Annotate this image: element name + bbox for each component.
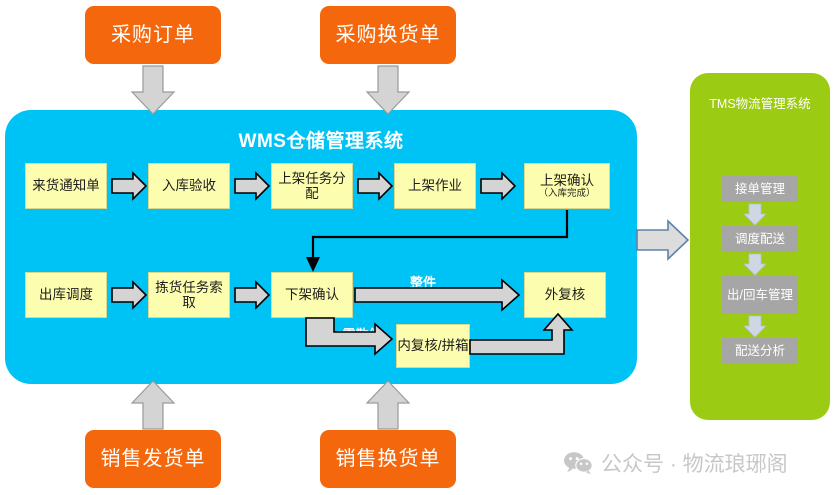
- source-doc-label: 销售发货单: [101, 448, 206, 470]
- tms-step-label: 出/回车管理: [727, 288, 793, 302]
- step-outbound-dispatch[interactable]: 出库调度: [25, 272, 107, 318]
- arrow-sales-delivery-to-wms: [132, 381, 174, 429]
- arrow-sales-exchange-to-wms: [367, 381, 409, 429]
- step-label: 上架确认: [540, 173, 594, 188]
- tms-step-label: 调度配送: [735, 232, 785, 246]
- source-doc-label: 销售换货单: [336, 448, 441, 470]
- step-label: 外复核: [545, 287, 586, 302]
- tms-panel-title: TMS物流管理系统: [700, 97, 820, 113]
- step-label: 出库调度: [39, 287, 93, 302]
- source-doc-sales-exchange-order[interactable]: 销售换货单: [320, 430, 456, 488]
- step-pickdown-confirm[interactable]: 下架确认: [271, 272, 353, 318]
- source-doc-purchase-order[interactable]: 采购订单: [85, 6, 221, 64]
- step-picking-task-fetch[interactable]: 拣货任务索取: [148, 272, 230, 318]
- arrow-wms-to-tms: [637, 221, 688, 259]
- flow-label-loose-pieces: 零散件: [330, 324, 394, 343]
- tms-step-vehicle-management[interactable]: 出/回车管理: [722, 276, 798, 314]
- step-inner-recheck-consolidation[interactable]: 内复核/拼箱: [396, 324, 470, 368]
- step-label: 上架作业: [408, 178, 462, 193]
- step-putaway-confirm[interactable]: 上架确认 （入库完成）: [524, 163, 610, 209]
- step-label: 拣货任务索取: [149, 280, 229, 310]
- diagram-canvas: WMS仓储管理系统 TMS物流管理系统 采购订单 采购换货单 销售发货单 销售换…: [0, 0, 840, 495]
- step-label: 来货通知单: [32, 178, 100, 193]
- step-putaway-task-allocation[interactable]: 上架任务分配: [271, 163, 353, 209]
- step-putaway-operation[interactable]: 上架作业: [394, 163, 476, 209]
- step-sublabel: （入库完成）: [538, 189, 595, 200]
- tms-step-delivery-analysis[interactable]: 配送分析: [722, 338, 798, 364]
- step-label: 上架任务分配: [272, 171, 352, 201]
- arrow-purchase-order-to-wms: [132, 66, 174, 114]
- flow-label-full-case: 整件: [393, 272, 453, 291]
- step-label: 下架确认: [285, 287, 339, 302]
- step-label: 入库验收: [162, 178, 216, 193]
- step-label: 内复核/拼箱: [397, 338, 468, 353]
- watermark: 公众号 · 物流琅琊阁: [563, 448, 788, 478]
- tms-step-label: 接单管理: [735, 182, 785, 196]
- step-outer-recheck[interactable]: 外复核: [524, 272, 606, 318]
- arrow-purchase-exchange-to-wms: [367, 66, 409, 114]
- source-doc-label: 采购换货单: [336, 24, 441, 46]
- wms-panel: WMS仓储管理系统: [5, 110, 637, 384]
- watermark-text: 公众号 · 物流琅琊阁: [601, 448, 788, 478]
- step-inbound-inspection[interactable]: 入库验收: [148, 163, 230, 209]
- wechat-icon: [563, 451, 593, 475]
- wms-panel-title: WMS仓储管理系统: [5, 126, 637, 153]
- tms-step-label: 配送分析: [735, 344, 785, 358]
- tms-step-dispatch-delivery[interactable]: 调度配送: [722, 226, 798, 252]
- step-arrival-notice[interactable]: 来货通知单: [25, 163, 107, 209]
- source-doc-purchase-exchange-order[interactable]: 采购换货单: [320, 6, 456, 64]
- tms-step-order-acceptance[interactable]: 接单管理: [722, 176, 798, 202]
- source-doc-label: 采购订单: [111, 24, 195, 46]
- source-doc-sales-delivery-order[interactable]: 销售发货单: [85, 430, 221, 488]
